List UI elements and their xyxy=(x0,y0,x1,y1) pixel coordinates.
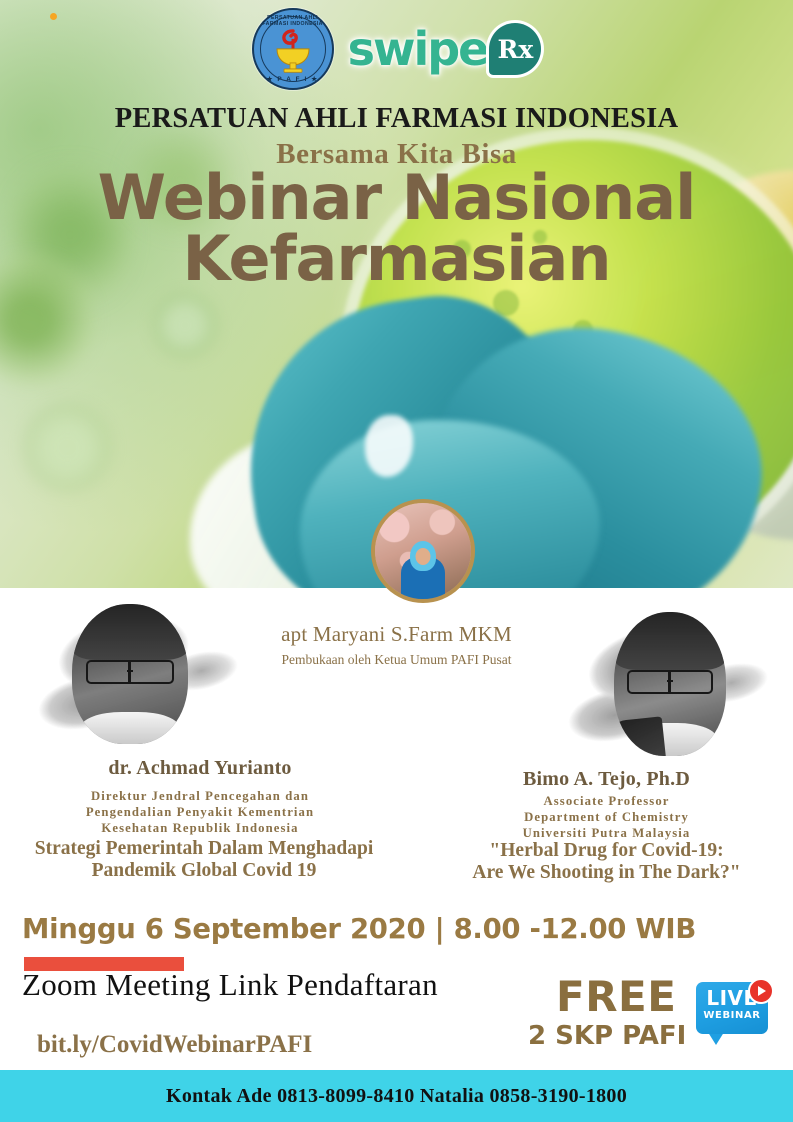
swipe-dot-icon xyxy=(50,13,57,20)
speaker-topic-right: "Herbal Drug for Covid-19: Are We Shooti… xyxy=(420,840,793,884)
collar xyxy=(81,712,178,744)
play-button-icon xyxy=(748,978,774,1004)
affiliation-line: Department of Chemistry xyxy=(420,810,793,826)
registration-link[interactable]: bit.ly/CovidWebinarPAFI xyxy=(37,1031,312,1059)
speaker-affiliation-left: Direktur Jendral Pencegahan dan Pengenda… xyxy=(0,789,400,837)
hair xyxy=(614,612,726,670)
logo-row: PERSATUAN AHLI FARMASI INDONESIA ★ P A F… xyxy=(0,6,793,92)
affiliation-line: Kesehatan Republik Indonesia xyxy=(0,821,400,837)
registration-label: Zoom Meeting Link Pendaftaran xyxy=(22,967,438,1003)
speaker-name-left: dr. Achmad Yurianto xyxy=(0,757,400,780)
glasses-icon xyxy=(86,660,174,684)
pafi-logo-top-text: PERSATUAN AHLI FARMASI INDONESIA xyxy=(254,15,332,27)
affiliation-line: Direktur Jendral Pencegahan dan xyxy=(0,789,400,805)
swiperx-logo: swipe Rx xyxy=(348,22,542,76)
topic-line: Are We Shooting in The Dark?" xyxy=(420,862,793,884)
price-free-label: FREE xyxy=(556,972,676,1021)
speaker-photo-right xyxy=(552,594,782,769)
organization-name: PERSATUAN AHLI FARMASI INDONESIA xyxy=(0,103,793,135)
affiliation-line: Pengendalian Penyakit Kementrian xyxy=(0,805,400,821)
credits-label: 2 SKP PAFI xyxy=(528,1021,686,1051)
lens-bridge xyxy=(128,662,131,682)
rx-bubble-icon: Rx xyxy=(489,23,541,75)
pafi-logo-icon: PERSATUAN AHLI FARMASI INDONESIA ★ P A F… xyxy=(252,8,334,90)
contact-text: Kontak Ade 0813-8099-8410 Natalia 0858-3… xyxy=(166,1085,627,1108)
webinar-label: WEBINAR xyxy=(696,1010,768,1021)
play-triangle xyxy=(758,986,766,996)
title-line-2: Kefarmasian xyxy=(0,229,793,290)
topic-line: "Herbal Drug for Covid-19: xyxy=(420,840,793,862)
speaker-photo-left xyxy=(22,582,252,757)
live-webinar-badge: LIVE WEBINAR xyxy=(692,978,774,1050)
speaker-topic-left: Strategi Pemerintah Dalam Menghadapi Pan… xyxy=(0,838,408,882)
blob-decor-4 xyxy=(150,290,220,360)
lens-bridge xyxy=(668,672,671,692)
avatar-face xyxy=(416,548,431,565)
snake-bowl-emblem-icon xyxy=(269,27,317,73)
chairperson-avatar xyxy=(371,499,475,603)
topic-line: Strategi Pemerintah Dalam Menghadapi xyxy=(0,838,408,860)
speaker-face-right xyxy=(614,612,726,756)
webinar-poster: PERSATUAN AHLI FARMASI INDONESIA ★ P A F… xyxy=(0,0,793,1122)
blob-decor-5 xyxy=(20,400,115,495)
suit-jacket xyxy=(614,716,665,756)
topic-line: Pandemik Global Covid 19 xyxy=(0,860,408,882)
contact-footer: Kontak Ade 0813-8099-8410 Natalia 0858-3… xyxy=(0,1070,793,1122)
speaker-affiliation-right: Associate Professor Department of Chemis… xyxy=(420,794,793,842)
pafi-logo-bottom-text: ★ P A F I ★ xyxy=(254,75,332,83)
speaker-name-right: Bimo A. Tejo, Ph.D xyxy=(420,768,793,791)
page-title: Webinar Nasional Kefarmasian xyxy=(0,168,793,290)
rx-label: Rx xyxy=(498,37,534,62)
glasses-icon xyxy=(627,670,712,694)
speaker-face-left xyxy=(72,604,188,744)
affiliation-line: Associate Professor xyxy=(420,794,793,810)
schedule-datetime: Minggu 6 September 2020 | 8.00 -12.00 WI… xyxy=(22,913,696,945)
hair xyxy=(72,604,188,660)
swipe-wordmark: swipe xyxy=(348,22,488,76)
